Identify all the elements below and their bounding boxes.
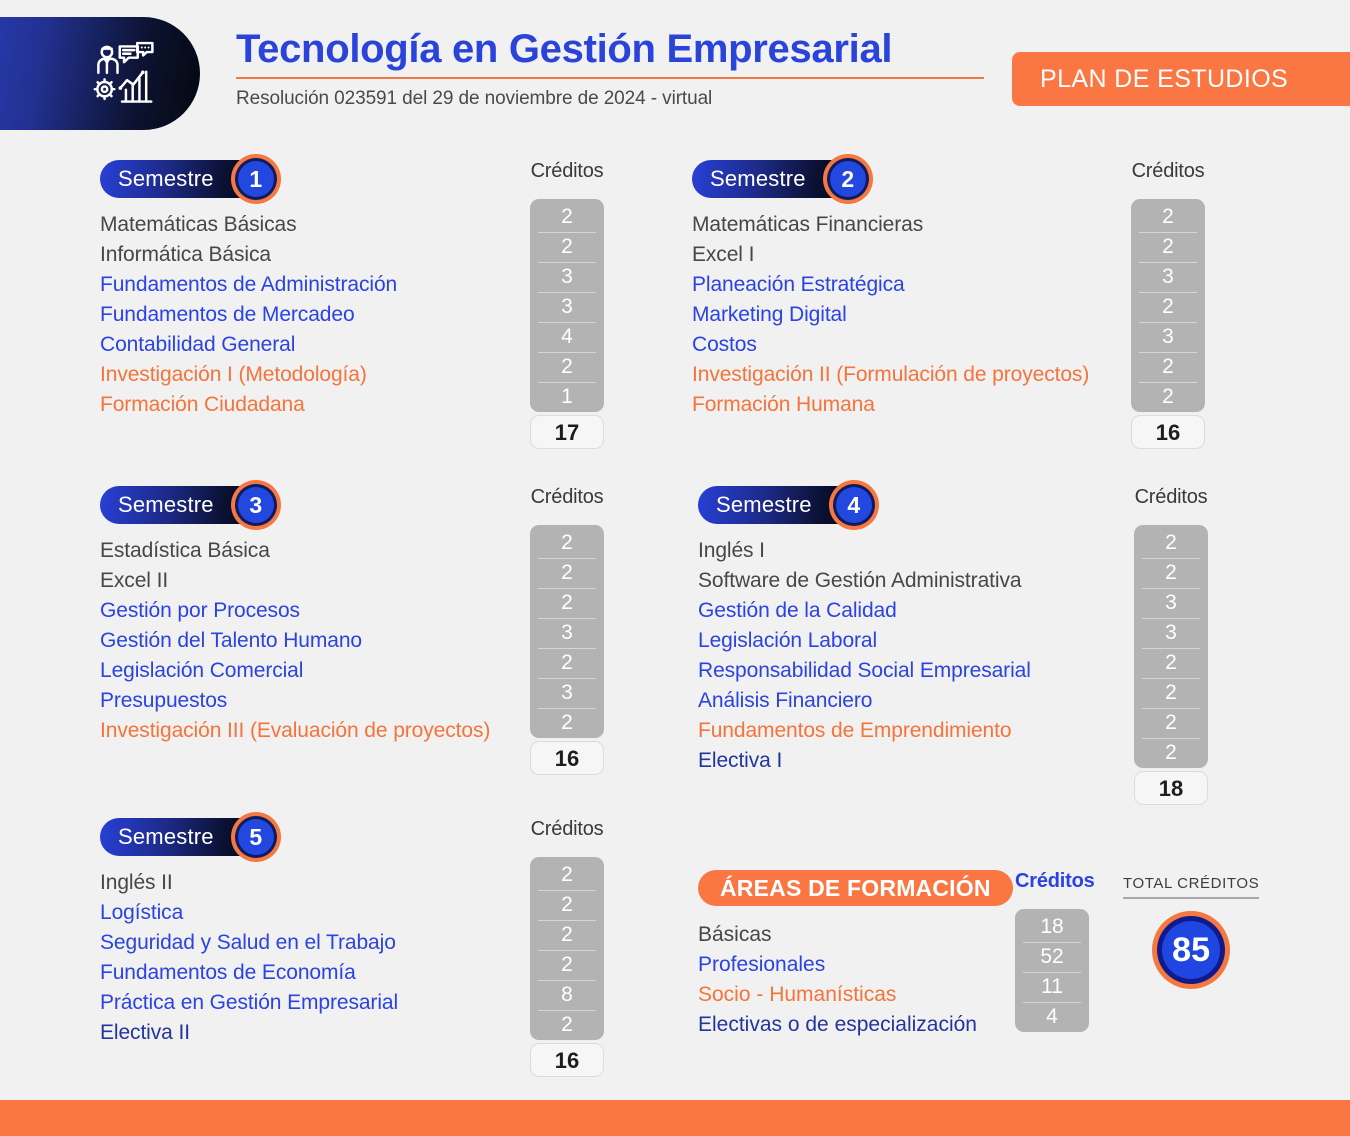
credits-box-1: 2 2 3 3 4 2 1 — [530, 199, 604, 412]
total-creditos-label: TOTAL CRÉDITOS — [1123, 875, 1259, 897]
course-item: Fundamentos de Mercadeo — [100, 300, 397, 330]
area-item: Básicas — [698, 920, 1013, 950]
credit-value: 2 — [1131, 352, 1205, 382]
semester-block-1: Semestre 1 Matemáticas Básicas Informáti… — [100, 160, 397, 420]
credit-value: 2 — [1131, 202, 1205, 232]
credit-value: 8 — [530, 980, 604, 1010]
course-item: Formación Ciudadana — [100, 390, 397, 420]
credit-value: 2 — [530, 528, 604, 558]
course-list-3: Estadística Básica Excel II Gestión por … — [100, 536, 490, 746]
semester-tag-5: Semestre 5 — [100, 818, 266, 856]
area-item: Socio - Humanísticas — [698, 980, 1013, 1010]
credit-value: 2 — [1134, 648, 1208, 678]
course-item: Gestión del Talento Humano — [100, 626, 490, 656]
credit-value: 2 — [530, 588, 604, 618]
semester-tag-label-1: Semestre — [118, 166, 214, 192]
semester-number-badge-5: 5 — [231, 812, 281, 862]
credits-label-2: Créditos — [1131, 160, 1205, 183]
credits-total-3: 16 — [530, 741, 604, 775]
total-creditos-divider — [1123, 897, 1259, 899]
semester-number-3: 3 — [238, 487, 274, 523]
credits-column-4: Créditos 2 2 3 3 2 2 2 2 18 — [1134, 486, 1208, 805]
semester-number-2: 2 — [830, 161, 866, 197]
semester-tag-1: Semestre 1 — [100, 160, 266, 198]
course-item: Seguridad y Salud en el Trabajo — [100, 928, 398, 958]
course-item: Excel I — [692, 240, 1089, 270]
semester-number-1: 1 — [238, 161, 274, 197]
logo-container — [0, 17, 200, 130]
semester-block-2: Semestre 2 Matemáticas Financieras Excel… — [692, 160, 1089, 420]
credit-value: 18 — [1015, 912, 1089, 942]
course-item: Investigación II (Formulación de proyect… — [692, 360, 1089, 390]
areas-credits-column: Créditos 18 52 11 4 — [1015, 870, 1089, 1032]
credits-label-5: Créditos — [530, 818, 604, 841]
course-item: Legislación Comercial — [100, 656, 490, 686]
credit-value: 11 — [1015, 972, 1089, 1002]
footer-bar — [0, 1100, 1350, 1136]
credits-label-1: Créditos — [530, 160, 604, 183]
area-item: Profesionales — [698, 950, 1013, 980]
course-item: Formación Humana — [692, 390, 1089, 420]
credit-value: 3 — [530, 618, 604, 648]
credit-value: 2 — [530, 352, 604, 382]
credit-value: 2 — [530, 950, 604, 980]
credit-value: 2 — [1134, 558, 1208, 588]
course-item: Fundamentos de Administración — [100, 270, 397, 300]
semester-tag-label-5: Semestre — [118, 824, 214, 850]
course-item: Logística — [100, 898, 398, 928]
semester-tag-4: Semestre 4 — [698, 486, 864, 524]
semester-number-5: 5 — [238, 819, 274, 855]
credit-value: 2 — [530, 920, 604, 950]
curriculum-sheet: Semestre 1 Matemáticas Básicas Informáti… — [0, 130, 1350, 1136]
course-item: Estadística Básica — [100, 536, 490, 566]
semester-number-4: 4 — [836, 487, 872, 523]
course-item: Costos — [692, 330, 1089, 360]
course-item: Software de Gestión Administrativa — [698, 566, 1031, 596]
course-item: Inglés II — [100, 868, 398, 898]
semester-tag-2: Semestre 2 — [692, 160, 858, 198]
semester-number-ring-1: 1 — [235, 158, 277, 200]
credit-value: 2 — [530, 1010, 604, 1040]
credit-value: 3 — [1134, 618, 1208, 648]
credit-value: 2 — [530, 558, 604, 588]
credit-value: 3 — [530, 678, 604, 708]
course-item: Electiva I — [698, 746, 1031, 776]
semester-number-ring-2: 2 — [827, 158, 869, 200]
credit-value: 2 — [1134, 678, 1208, 708]
course-item: Presupuestos — [100, 686, 490, 716]
areas-de-formacion-tag: ÁREAS DE FORMACIÓN — [698, 870, 1013, 906]
credit-value: 52 — [1015, 942, 1089, 972]
credits-box-2: 2 2 3 2 3 2 2 — [1131, 199, 1205, 412]
course-item: Informática Básica — [100, 240, 397, 270]
semester-number-ring-5: 5 — [235, 816, 277, 858]
plan-de-estudios-label: PLAN DE ESTUDIOS — [1040, 65, 1288, 94]
semester-number-badge-3: 3 — [231, 480, 281, 530]
semester-tag-label-4: Semestre — [716, 492, 812, 518]
credit-value: 2 — [530, 202, 604, 232]
course-item: Contabilidad General — [100, 330, 397, 360]
course-item: Excel II — [100, 566, 490, 596]
areas-list: Básicas Profesionales Socio - Humanístic… — [698, 920, 1013, 1040]
credit-value: 2 — [1131, 382, 1205, 412]
total-creditos-ring: 85 — [1157, 916, 1225, 984]
total-creditos-value: 85 — [1162, 921, 1220, 979]
credit-value: 3 — [1131, 322, 1205, 352]
credit-value: 2 — [1134, 528, 1208, 558]
semester-tag-label-2: Semestre — [710, 166, 806, 192]
credits-column-1: Créditos 2 2 3 3 4 2 1 17 — [530, 160, 604, 449]
page-header: Tecnología en Gestión Empresarial Resolu… — [0, 0, 1350, 130]
course-item: Gestión por Procesos — [100, 596, 490, 626]
semester-tag-3: Semestre 3 — [100, 486, 266, 524]
credit-value: 3 — [530, 292, 604, 322]
credits-column-2: Créditos 2 2 3 2 3 2 2 16 — [1131, 160, 1205, 449]
plan-de-estudios-badge: PLAN DE ESTUDIOS — [1012, 52, 1350, 106]
credit-value: 3 — [1131, 262, 1205, 292]
total-creditos-block: TOTAL CRÉDITOS 85 — [1123, 875, 1259, 989]
areas-credits-label: Créditos — [1015, 870, 1089, 893]
course-item: Marketing Digital — [692, 300, 1089, 330]
credits-column-3: Créditos 2 2 2 3 2 3 2 16 — [530, 486, 604, 775]
course-item: Fundamentos de Emprendimiento — [698, 716, 1031, 746]
credit-value: 2 — [530, 860, 604, 890]
title-block: Tecnología en Gestión Empresarial Resolu… — [236, 28, 996, 110]
credits-total-5: 16 — [530, 1043, 604, 1077]
credit-value: 2 — [1134, 738, 1208, 768]
credits-box-4: 2 2 3 3 2 2 2 2 — [1134, 525, 1208, 768]
course-item: Inglés I — [698, 536, 1031, 566]
credits-box-3: 2 2 2 3 2 3 2 — [530, 525, 604, 738]
semester-number-badge-2: 2 — [823, 154, 873, 204]
course-item: Planeación Estratégica — [692, 270, 1089, 300]
title-divider — [236, 77, 984, 79]
semester-block-3: Semestre 3 Estadística Básica Excel II G… — [100, 486, 490, 746]
course-item: Investigación III (Evaluación de proyect… — [100, 716, 490, 746]
credits-label-4: Créditos — [1134, 486, 1208, 509]
semester-number-badge-1: 1 — [231, 154, 281, 204]
credit-value: 2 — [1134, 708, 1208, 738]
areas-de-formacion-block: ÁREAS DE FORMACIÓN Básicas Profesionales… — [698, 870, 1013, 1040]
credit-value: 3 — [1134, 588, 1208, 618]
course-list-2: Matemáticas Financieras Excel I Planeaci… — [692, 210, 1089, 420]
page-subtitle: Resolución 023591 del 29 de noviembre de… — [236, 88, 996, 110]
credit-value: 2 — [530, 648, 604, 678]
credit-value: 1 — [530, 382, 604, 412]
credit-value: 4 — [530, 322, 604, 352]
credits-total-4: 18 — [1134, 771, 1208, 805]
course-item: Análisis Financiero — [698, 686, 1031, 716]
course-list-5: Inglés II Logística Seguridad y Salud en… — [100, 868, 398, 1048]
credit-value: 2 — [1131, 232, 1205, 262]
total-creditos-badge: 85 — [1152, 911, 1230, 989]
credit-value: 2 — [530, 708, 604, 738]
credits-total-1: 17 — [530, 415, 604, 449]
semester-number-ring-3: 3 — [235, 484, 277, 526]
semester-block-5: Semestre 5 Inglés II Logística Seguridad… — [100, 818, 398, 1048]
credit-value: 2 — [530, 890, 604, 920]
credits-total-2: 16 — [1131, 415, 1205, 449]
semester-number-badge-4: 4 — [829, 480, 879, 530]
credit-value: 3 — [530, 262, 604, 292]
credits-column-5: Créditos 2 2 2 2 8 2 16 — [530, 818, 604, 1077]
course-item: Matemáticas Financieras — [692, 210, 1089, 240]
areas-credits-box: 18 52 11 4 — [1015, 909, 1089, 1032]
areas-de-formacion-label: ÁREAS DE FORMACIÓN — [720, 875, 991, 902]
course-item: Investigación I (Metodología) — [100, 360, 397, 390]
course-item: Fundamentos de Economía — [100, 958, 398, 988]
credit-value: 2 — [1131, 292, 1205, 322]
course-item: Responsabilidad Social Empresarial — [698, 656, 1031, 686]
credit-value: 4 — [1015, 1002, 1089, 1032]
business-analytics-icon — [86, 38, 158, 110]
course-item: Electiva II — [100, 1018, 398, 1048]
semester-tag-label-3: Semestre — [118, 492, 214, 518]
credits-box-5: 2 2 2 2 8 2 — [530, 857, 604, 1040]
course-list-1: Matemáticas Básicas Informática Básica F… — [100, 210, 397, 420]
course-item: Matemáticas Básicas — [100, 210, 397, 240]
course-item: Gestión de la Calidad — [698, 596, 1031, 626]
semester-block-4: Semestre 4 Inglés I Software de Gestión … — [698, 486, 1031, 776]
area-item: Electivas o de especialización — [698, 1010, 1013, 1040]
course-list-4: Inglés I Software de Gestión Administrat… — [698, 536, 1031, 776]
page-title: Tecnología en Gestión Empresarial — [236, 28, 996, 70]
semester-number-ring-4: 4 — [833, 484, 875, 526]
credits-label-3: Créditos — [530, 486, 604, 509]
course-item: Legislación Laboral — [698, 626, 1031, 656]
course-item: Práctica en Gestión Empresarial — [100, 988, 398, 1018]
credit-value: 2 — [530, 232, 604, 262]
